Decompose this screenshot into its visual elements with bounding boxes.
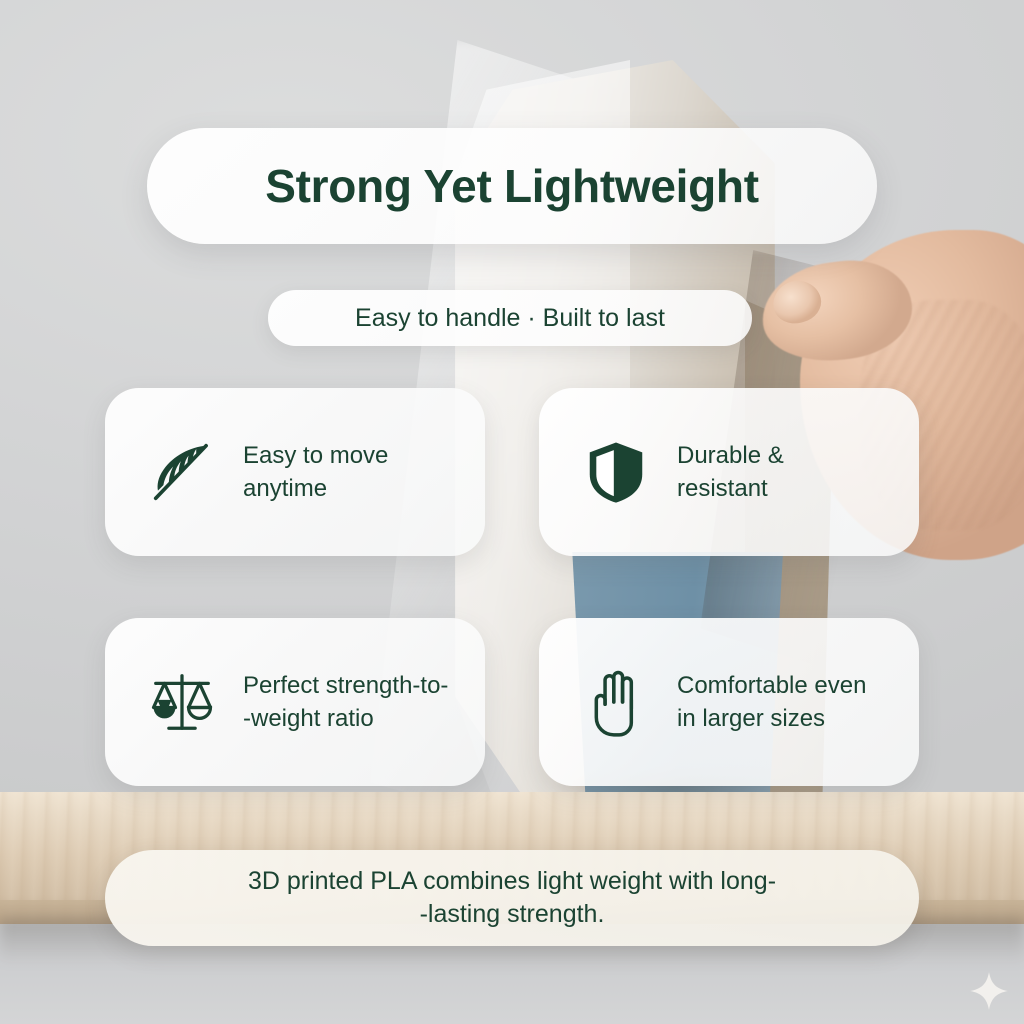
balance-scale-icon bbox=[147, 667, 217, 737]
feature-card-easy-to-move[interactable]: Easy to move anytime bbox=[105, 388, 485, 556]
feature-label: Easy to move anytime bbox=[243, 439, 388, 505]
feature-label-line1: Comfortable even bbox=[677, 672, 866, 699]
feature-label-line2: in larger sizes bbox=[677, 705, 825, 732]
feature-label-line2: anytime bbox=[243, 475, 327, 502]
feature-label: Perfect strength-to- -weight ratio bbox=[243, 669, 448, 735]
feature-label-line1: Easy to move bbox=[243, 442, 388, 469]
open-hand-icon bbox=[581, 667, 651, 737]
feature-label: Durable & resistant bbox=[677, 439, 784, 505]
footer-line1: 3D printed PLA combines light weight wit… bbox=[248, 867, 776, 895]
feature-label: Comfortable even in larger sizes bbox=[677, 669, 866, 735]
feature-card-strength-to-weight[interactable]: Perfect strength-to- -weight ratio bbox=[105, 618, 485, 786]
feature-card-durable-resistant[interactable]: Durable & resistant bbox=[539, 388, 919, 556]
feature-label-line2: resistant bbox=[677, 475, 768, 502]
feature-card-grid: Easy to move anytime Durable & resistant bbox=[105, 388, 919, 786]
page-subtitle: Easy to handle · Built to last bbox=[355, 304, 665, 333]
shield-icon bbox=[581, 437, 651, 507]
feature-label-line1: Perfect strength-to- bbox=[243, 672, 448, 699]
sparkle-icon bbox=[968, 970, 1010, 1012]
title-pill: Strong Yet Lightweight bbox=[147, 128, 877, 244]
feather-icon bbox=[147, 437, 217, 507]
feature-label-line2: -weight ratio bbox=[243, 705, 374, 732]
footer-caption: 3D printed PLA combines light weight wit… bbox=[248, 865, 776, 931]
footer-line2: -lasting strength. bbox=[420, 900, 605, 928]
feature-card-comfortable-larger-sizes[interactable]: Comfortable even in larger sizes bbox=[539, 618, 919, 786]
infographic-canvas: Strong Yet Lightweight Easy to handle · … bbox=[0, 0, 1024, 1024]
subtitle-pill: Easy to handle · Built to last bbox=[268, 290, 752, 346]
feature-label-line1: Durable & bbox=[677, 442, 784, 469]
footer-pill: 3D printed PLA combines light weight wit… bbox=[105, 850, 919, 946]
page-title: Strong Yet Lightweight bbox=[265, 159, 758, 213]
